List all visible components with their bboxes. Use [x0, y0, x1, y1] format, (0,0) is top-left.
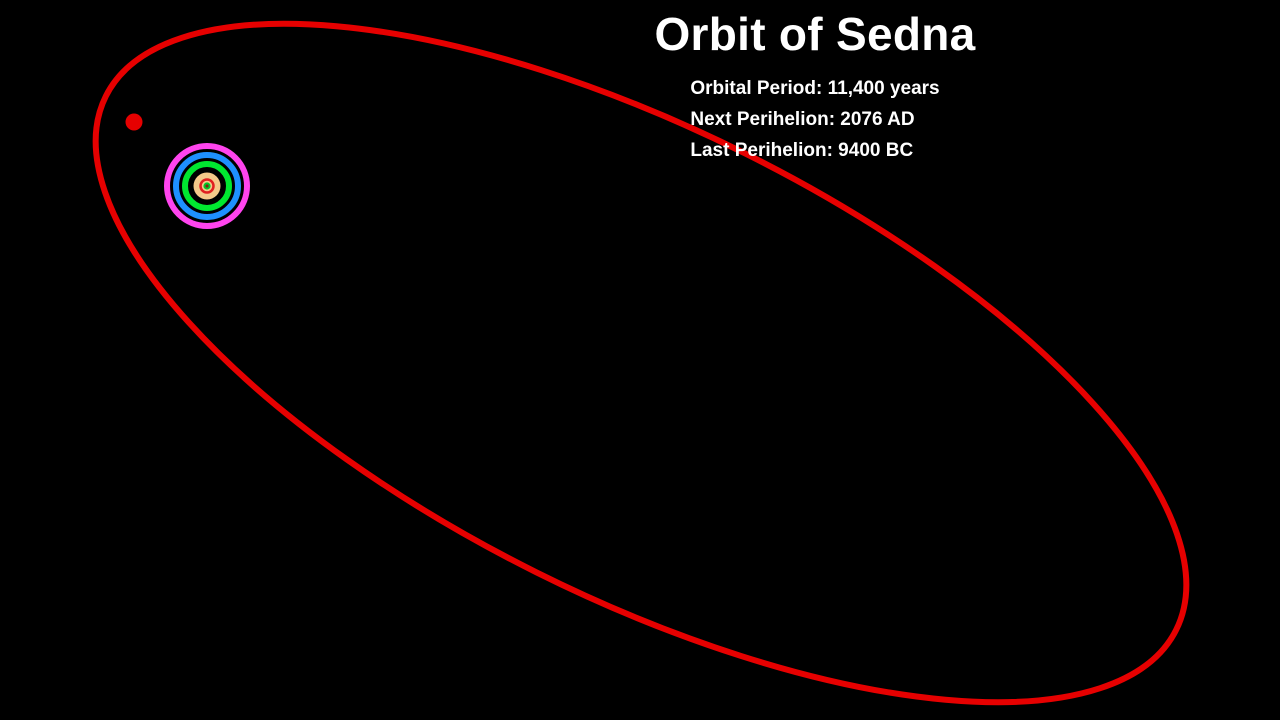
solar-system-scene	[0, 0, 1280, 720]
sedna-body-marker[interactable]	[126, 114, 143, 131]
sun	[205, 184, 208, 187]
orbit-diagram-canvas: Orbit of Sedna Orbital Period: 11,400 ye…	[0, 0, 1280, 720]
inner-solar-system	[167, 146, 247, 226]
